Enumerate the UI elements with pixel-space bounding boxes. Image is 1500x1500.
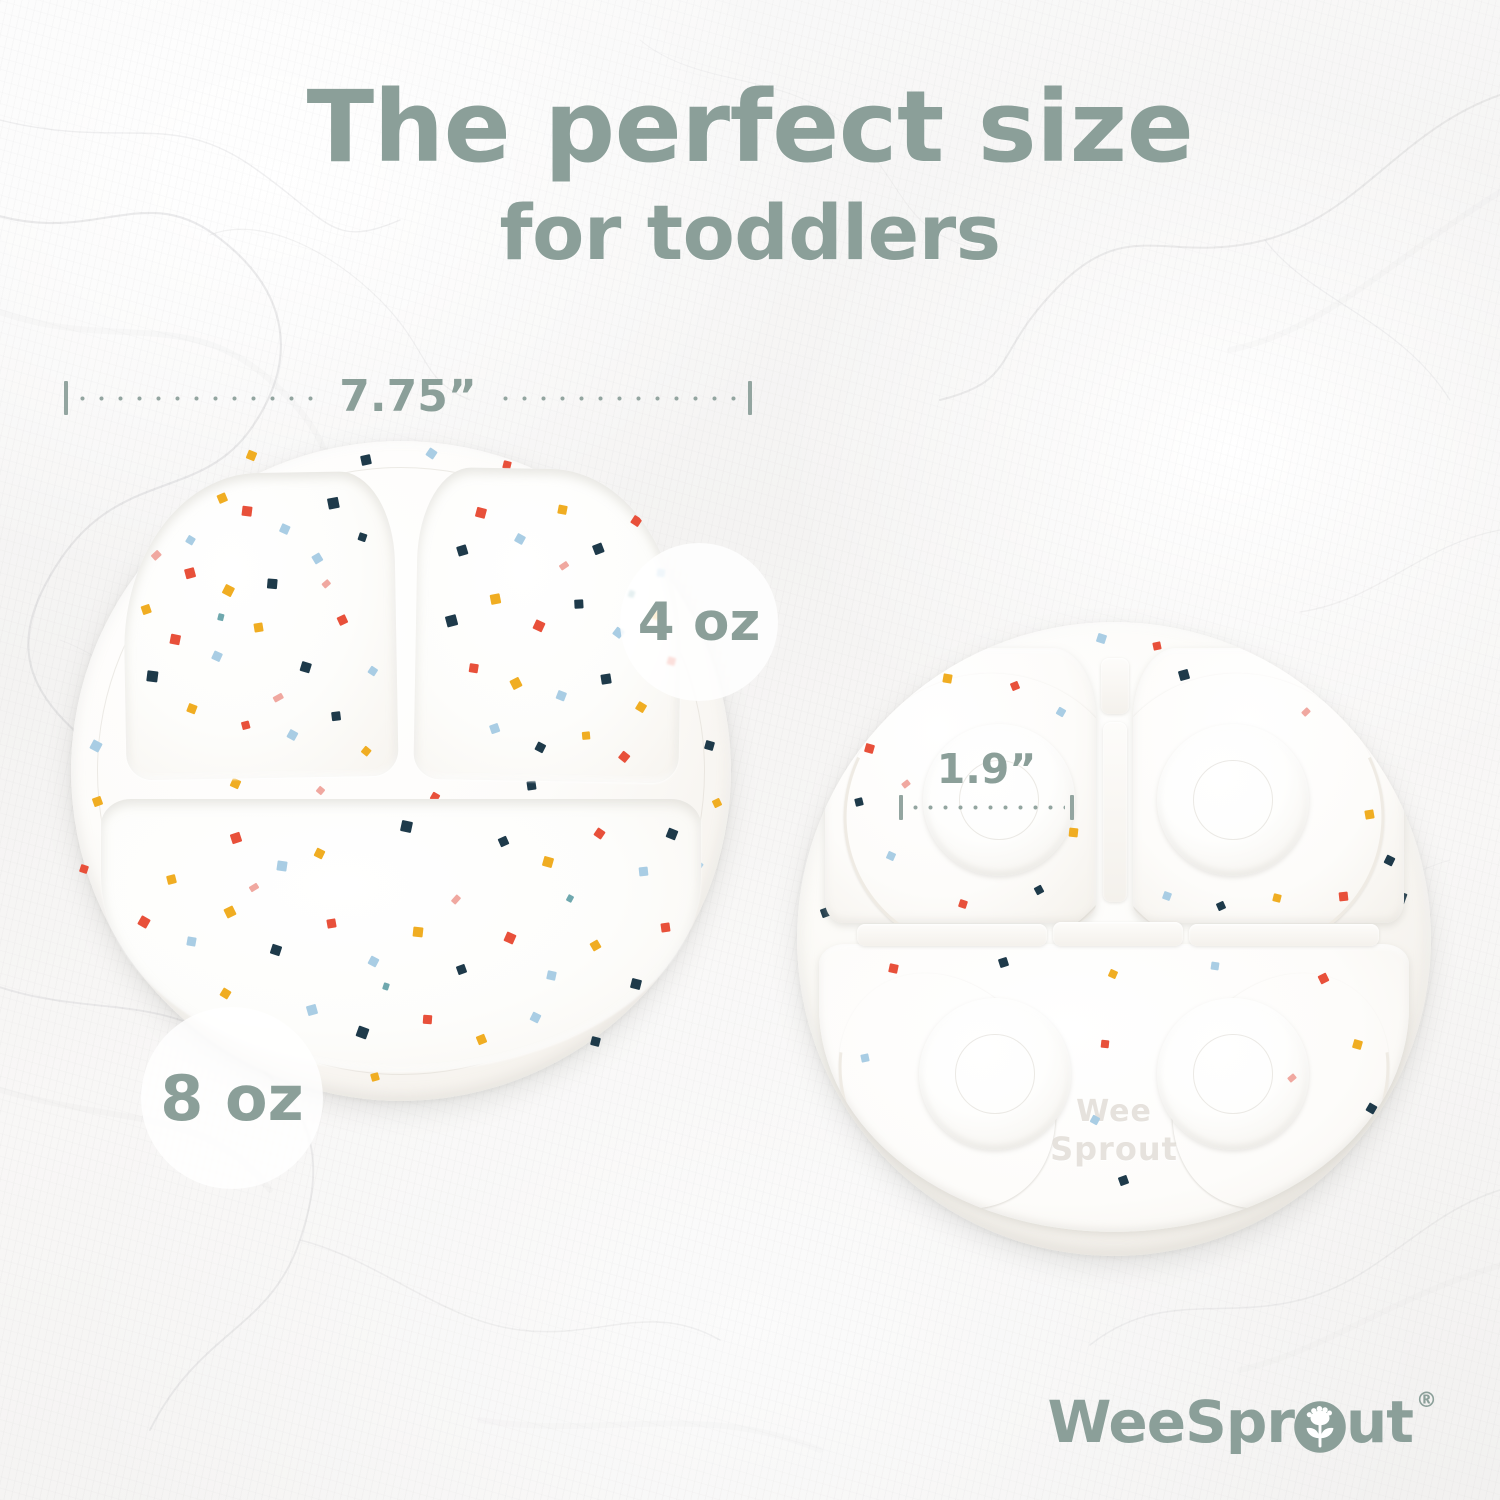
confetti-speck [704,740,715,751]
headline-line-2: for toddlers [0,195,1500,271]
confetti-speck [361,746,372,757]
confetti-speck [331,711,341,721]
confetti-speck [660,922,670,932]
confetti-speck [630,978,642,990]
confetti-speck [1096,633,1107,644]
confetti-speck [216,492,228,504]
confetti-speck [137,915,151,929]
confetti-speck [566,894,575,903]
confetti-speck [445,614,458,627]
confetti-speck [529,1011,541,1023]
confetti-speck [276,860,287,871]
plate-width-label: 7.75” [339,371,476,422]
confetti-speck [230,832,243,845]
suction-cup-dimension-line [899,797,1074,817]
confetti-speck [555,690,567,702]
confetti-speck [635,701,647,713]
confetti-speck [1118,1175,1130,1187]
confetti-speck [475,507,487,519]
dimension-cap-left [64,381,68,415]
confetti-speck [367,955,379,967]
confetti-speck [241,506,252,517]
confetti-speck [532,619,545,632]
confetti-speck [425,447,437,459]
confetti-speck [185,535,196,546]
confetti-speck [1383,854,1395,866]
underside-lobe-upper-right [1133,648,1404,923]
confetti-speck [413,927,424,938]
confetti-speck [279,523,291,535]
capacity-badge-4oz: 4 oz [620,543,778,701]
confetti-speck [355,1025,369,1039]
confetti-speck [222,584,235,597]
brand-name-part-2: ut [1346,1388,1413,1456]
confetti-speck [253,622,263,632]
brand-logo: WeeSpr ut ® [1047,1388,1436,1456]
confetti-speck [490,593,502,605]
dimension-dots-right [496,395,743,402]
confetti-speck [639,867,649,877]
confetti-speck [1178,669,1190,681]
confetti-speck [489,723,500,734]
divided-plate-back-view: Wee Sprout [797,622,1431,1256]
dimension-dots [908,804,1065,811]
embossed-brand-line-2: Sprout [1014,1130,1214,1168]
brand-name-part-1: WeeSpr [1047,1388,1293,1456]
confetti-speck [592,542,605,555]
confetti-speck [998,957,1009,968]
confetti-speck [1377,744,1388,755]
sprout-footprint-icon [1292,1399,1348,1455]
confetti-speck [151,550,162,561]
confetti-speck [186,703,198,715]
confetti-speck [326,918,336,928]
confetti-speck [503,931,516,944]
confetti-speck [456,544,468,556]
headline: The perfect size for toddlers [0,78,1500,271]
confetti-speck [367,666,378,677]
confetti-speck [456,964,468,976]
confetti-speck [476,1034,488,1046]
confetti-speck [166,874,177,885]
confetti-speck [286,729,298,741]
confetti-speck [272,693,284,703]
confetti-speck [712,798,723,809]
underside-lobe-lower: Wee Sprout [819,944,1409,1232]
confetti-speck [526,780,536,790]
registered-trademark-symbol: ® [1416,1388,1436,1412]
confetti-speck [600,673,611,684]
confetti-speck [469,663,479,673]
confetti-speck [1152,641,1161,650]
divided-plate-front-view [71,441,731,1101]
confetti-speck [1069,828,1079,838]
confetti-speck [336,614,348,626]
infographic-canvas: The perfect size for toddlers 7.75” [0,0,1500,1500]
confetti-speck [665,827,678,840]
confetti-speck [593,827,605,839]
confetti-speck [559,561,570,571]
confetti-speck [1210,961,1219,970]
confetti-speck [574,599,583,608]
suction-cup [1157,724,1309,876]
suction-cup-width-label: 1.9” [899,745,1074,793]
confetti-speck [306,1004,318,1016]
confetti-speck [267,578,278,589]
confetti-speck [582,731,591,740]
divider-bridge-right [1189,924,1379,946]
confetti-speck [618,751,631,764]
confetti-speck [1101,1040,1110,1049]
confetti-speck [217,613,225,621]
confetti-speck [357,532,367,542]
confetti-speck [321,579,331,589]
headline-line-1: The perfect size [0,78,1500,177]
divider-bridge-center [1053,922,1183,946]
confetti-speck [400,820,413,833]
confetti-speck [557,504,568,515]
confetti-speck [186,936,196,946]
plate-width-dimension-line: 7.75” [64,378,752,418]
dimension-cap-left [899,795,903,820]
confetti-speck [370,1072,380,1082]
confetti-speck [888,963,899,974]
dimension-cap-right [1070,795,1074,820]
divider-bridge-top [1101,658,1129,714]
confetti-speck [327,497,340,510]
confetti-speck [360,454,372,466]
confetti-speck [542,856,554,868]
confetti-speck [423,1015,433,1025]
confetti-speck [514,533,526,545]
confetti-speck [451,894,461,905]
confetti-speck [140,604,151,615]
confetti-speck [313,847,325,859]
confetti-speck [241,720,251,730]
confetti-speck [1108,969,1119,980]
confetti-speck [270,944,283,957]
confetti-speck [146,670,158,682]
confetti-speck [1364,809,1374,819]
confetti-speck [249,883,260,893]
confetti-speck [1330,671,1339,680]
divider-bridge-vertical [1103,722,1127,902]
confetti-speck [219,987,231,999]
confetti-speck [299,661,311,673]
confetti-speck [942,673,952,683]
confetti-speck [1339,892,1349,902]
confetti-speck [509,677,522,690]
confetti-speck [534,741,546,753]
capacity-badge-8oz: 8 oz [141,1007,323,1189]
confetti-speck [169,634,181,646]
confetti-speck [223,905,236,918]
confetti-speck [382,982,390,991]
confetti-speck [211,650,223,662]
divider-bridge-left [857,924,1047,946]
embossed-brand-line-1: Wee [1034,1094,1194,1129]
confetti-speck [589,939,601,951]
confetti-speck [311,552,323,564]
confetti-speck [860,1053,869,1062]
dimension-cap-right [748,381,752,415]
confetti-speck [580,1038,592,1050]
confetti-speck [184,567,196,579]
confetti-speck [498,836,510,848]
confetti-speck [546,970,557,981]
dimension-dots-left [73,395,320,402]
